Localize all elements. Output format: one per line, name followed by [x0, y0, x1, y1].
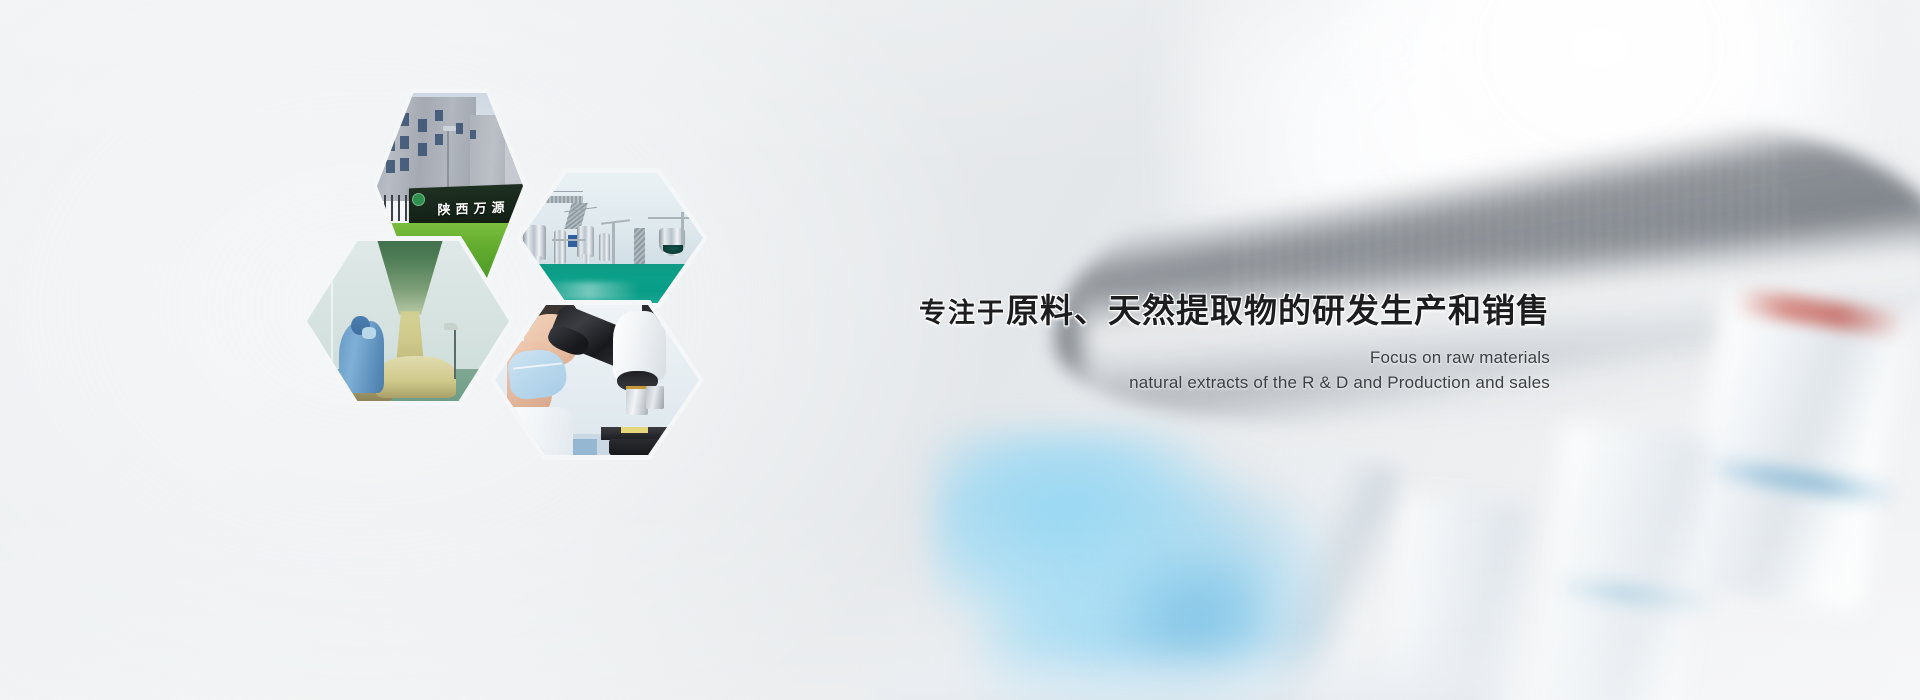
riser-pipe: [681, 212, 684, 248]
lamp-head: [443, 126, 456, 131]
window: [418, 119, 427, 132]
worker-face-mask: [362, 327, 376, 338]
collection-bag: [376, 356, 457, 398]
objective-gold-band: [626, 386, 648, 389]
company-sign-text: 陕西万源: [418, 187, 523, 228]
lamp-post: [447, 130, 449, 188]
window: [435, 110, 442, 121]
microscope-column-blur: [1228, 445, 1402, 700]
technician-lab-coat: [495, 407, 573, 455]
microscope-body: [613, 311, 666, 380]
banner-headline: 专注于原料、天然提取物的研发生产和销售: [700, 290, 1550, 331]
concentrator-tank: [577, 226, 593, 257]
production-line-photo[interactable]: [516, 168, 708, 308]
lab-bench: [495, 434, 699, 455]
microscope-objective-1: [626, 388, 648, 415]
equipment-stand: [454, 327, 456, 378]
blue-glove-shadow: [1105, 545, 1275, 700]
ladder: [634, 228, 645, 264]
vessel-contents: [663, 245, 683, 254]
objective-lens-blue-band-2: [1554, 575, 1720, 615]
receiver-tank: [599, 233, 610, 262]
banner-subtitle-line-1: Focus on raw materials: [700, 348, 1550, 368]
banner-subtitle-line-2: natural extracts of the R & D and Produc…: [700, 373, 1550, 393]
headline-main: 原料、天然提取物的研发生产和销售: [1006, 291, 1550, 330]
window: [470, 130, 476, 139]
window: [400, 136, 409, 149]
platform-railing: [525, 191, 583, 199]
window: [418, 143, 427, 156]
blue-glove-blur: [930, 430, 1330, 700]
headline-lead: 专注于: [919, 298, 1006, 329]
lab-microscope-photo[interactable]: [490, 300, 704, 460]
objective-lens-barrel-3: [1380, 495, 1530, 700]
microscope-stage-blur: [880, 640, 1500, 700]
wall-corner-line: [331, 241, 333, 372]
hero-banner: 陕西万源: [0, 0, 1920, 700]
objective-lens-blue-band: [1700, 454, 1901, 507]
top-pipe-run: [648, 217, 695, 219]
objective-lens-barrel-2: [1528, 422, 1712, 700]
microscope-head-highlight: [1340, 0, 1860, 220]
specimen-slide: [621, 427, 648, 433]
objective-lens-red-band: [1734, 287, 1906, 339]
hexagon-photo-cluster: 陕西万源: [0, 0, 760, 500]
scoop: [444, 323, 458, 330]
microscope-turret-ring: [1037, 72, 1920, 464]
column-vessel: [554, 230, 567, 264]
window: [386, 115, 395, 128]
vertical-pipe: [612, 222, 615, 264]
window: [435, 134, 442, 145]
objective-lens-barrel-1: [1678, 287, 1908, 612]
window: [386, 160, 395, 173]
window: [456, 123, 463, 134]
microscope-objective-2: [646, 386, 664, 409]
banner-copy: 专注于原料、天然提取物的研发生产和销售 Focus on raw materia…: [700, 290, 1550, 393]
cross-pipe: [552, 239, 585, 241]
window: [400, 158, 409, 171]
control-panel: [568, 235, 577, 247]
